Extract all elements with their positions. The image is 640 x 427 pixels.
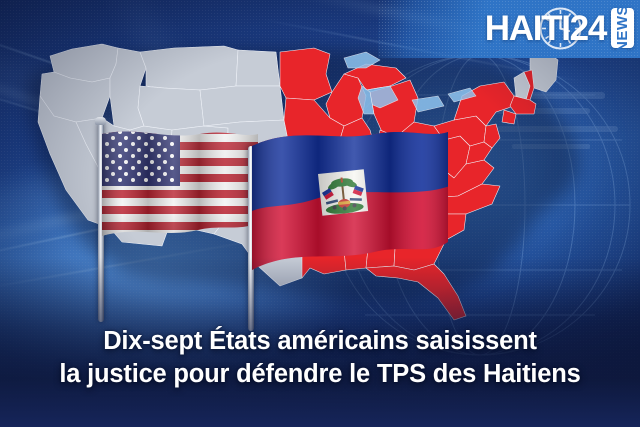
logo-news-badge: NEWS — [611, 8, 634, 48]
news-graphic-canvas: Dix-sept États américains saisissent la … — [0, 0, 640, 427]
headline-line-2: la justice pour défendre le TPS des Hait… — [12, 358, 628, 391]
haiti24-logo[interactable]: HAITI24 NEWS — [485, 5, 634, 51]
logo-news-badge-label: NEWS — [614, 5, 631, 52]
headline-line-1: Dix-sept États américains saisissent — [103, 327, 537, 355]
headline: Dix-sept États américains saisissent la … — [0, 325, 640, 391]
logo-wordmark: HAITI24 — [485, 11, 606, 46]
